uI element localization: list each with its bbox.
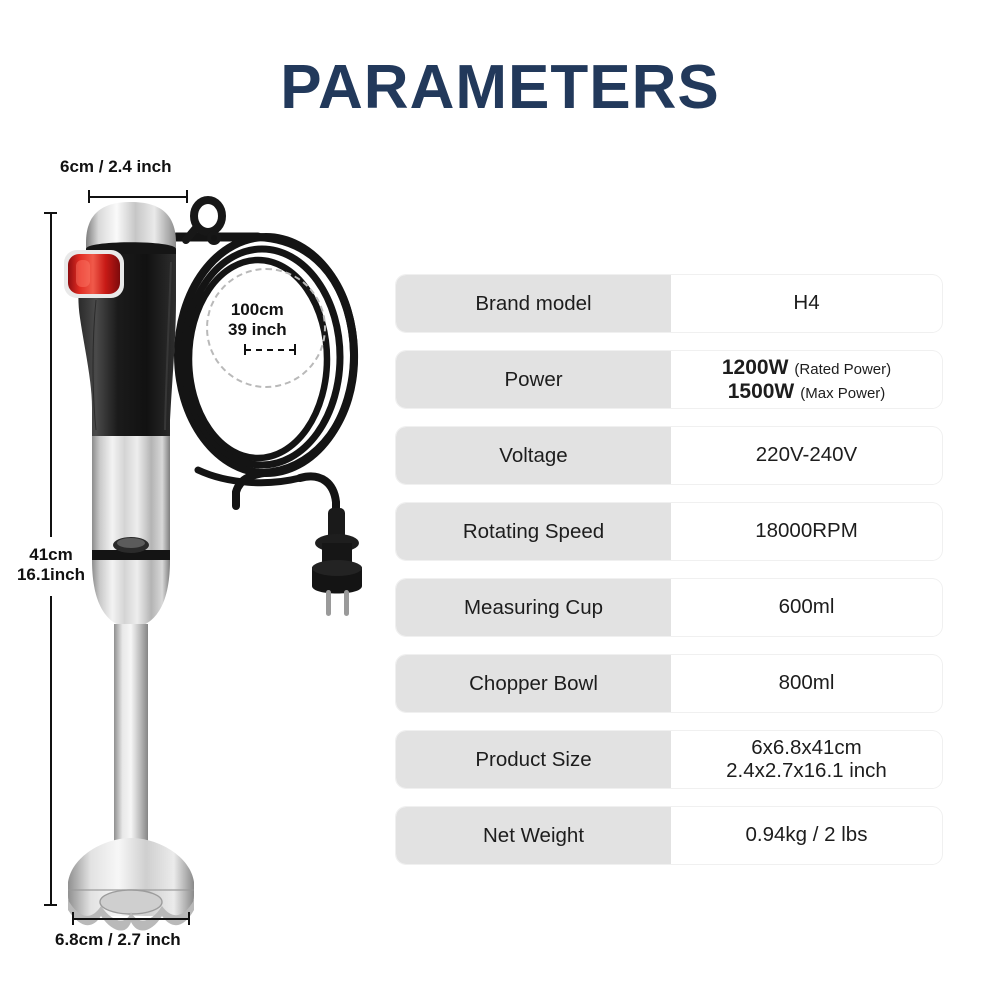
table-row: Power 1200W (Rated Power) 1500W (Max Pow… <box>396 351 942 408</box>
spec-label: Voltage <box>396 427 671 484</box>
spec-value-line: 1200W (Rated Power) <box>722 356 891 380</box>
power-rated-value: 1200W <box>722 356 789 380</box>
spec-label: Power <box>396 351 671 408</box>
dimension-left-label: 41cm 16.1inch <box>8 545 94 584</box>
dimension-bottom-tick-right <box>188 912 190 925</box>
spec-value: 0.94kg / 2 lbs <box>671 807 942 864</box>
dimension-top-line <box>88 196 188 198</box>
dimension-top-tick-left <box>88 190 90 203</box>
product-illustration: 6cm / 2.4 inch 41cm 16.1inch 6.8cm / 2.7… <box>0 0 396 1000</box>
hand-blender-drawing <box>0 0 396 1000</box>
dimension-height-inch: 16.1inch <box>17 565 85 584</box>
cord-length-inch: 39 inch <box>228 320 287 339</box>
stainless-blade-guard <box>68 838 194 931</box>
spec-label: Measuring Cup <box>396 579 671 636</box>
spec-label: Brand model <box>396 275 671 332</box>
power-max-value: 1500W <box>728 380 795 404</box>
cord-length-cm: 100cm <box>231 300 284 319</box>
dimension-height-cm: 41cm <box>29 545 72 564</box>
dimension-left-line-upper <box>50 212 52 537</box>
specification-table: Brand model H4 Power 1200W (Rated Power)… <box>396 275 942 883</box>
spec-value-line: 220V-240V <box>756 444 857 467</box>
spec-value: 600ml <box>671 579 942 636</box>
spec-value: 800ml <box>671 655 942 712</box>
stainless-steel-shaft <box>114 624 148 846</box>
table-row: Voltage 220V-240V <box>396 427 942 484</box>
spec-value: 18000RPM <box>671 503 942 560</box>
cord-diameter-line <box>245 349 295 351</box>
cord-diameter-tick-left <box>244 344 246 355</box>
spec-value-line: 800ml <box>779 672 835 695</box>
dimension-bottom-line <box>72 918 190 920</box>
spec-label: Chopper Bowl <box>396 655 671 712</box>
dimension-bottom-label: 6.8cm / 2.7 inch <box>55 930 181 950</box>
cord-length-label: 100cm 39 inch <box>228 300 287 339</box>
table-row: Net Weight 0.94kg / 2 lbs <box>396 807 942 864</box>
spec-label: Product Size <box>396 731 671 788</box>
stainless-steel-body <box>92 436 170 628</box>
dimension-bottom-tick-left <box>72 912 74 925</box>
cord-diameter-tick-right <box>294 344 296 355</box>
table-row: Chopper Bowl 800ml <box>396 655 942 712</box>
dimension-left-line-lower <box>50 596 52 906</box>
spec-label: Net Weight <box>396 807 671 864</box>
table-row: Measuring Cup 600ml <box>396 579 942 636</box>
spec-value: 1200W (Rated Power) 1500W (Max Power) <box>671 351 942 408</box>
spec-value: 6x6.8x41cm 2.4x2.7x16.1 inch <box>671 731 942 788</box>
spec-value-line: 600ml <box>779 596 835 619</box>
dimension-top-tick-right <box>186 190 188 203</box>
spec-value-line: 0.94kg / 2 lbs <box>746 824 868 847</box>
power-max-note: (Max Power) <box>800 386 885 403</box>
spec-value: H4 <box>671 275 942 332</box>
spec-value: 220V-240V <box>671 427 942 484</box>
spec-value-line: 6x6.8x41cm <box>751 737 862 760</box>
parameters-page: PARAMETERS <box>0 0 1000 1000</box>
power-plug <box>312 508 362 616</box>
spec-value-line: H4 <box>793 292 819 315</box>
dimension-left-tick-top <box>44 212 57 214</box>
spec-value-line-2: 2.4x2.7x16.1 inch <box>726 760 887 783</box>
spec-label: Rotating Speed <box>396 503 671 560</box>
red-speed-button <box>64 250 124 298</box>
spec-value-line: 18000RPM <box>755 520 858 543</box>
table-row: Product Size 6x6.8x41cm 2.4x2.7x16.1 inc… <box>396 731 942 788</box>
dimension-top-label: 6cm / 2.4 inch <box>60 157 172 177</box>
power-rated-note: (Rated Power) <box>794 362 891 379</box>
spec-value-line-2: 1500W (Max Power) <box>728 380 886 404</box>
table-row: Rotating Speed 18000RPM <box>396 503 942 560</box>
table-row: Brand model H4 <box>396 275 942 332</box>
dimension-left-tick-bottom <box>44 904 57 906</box>
